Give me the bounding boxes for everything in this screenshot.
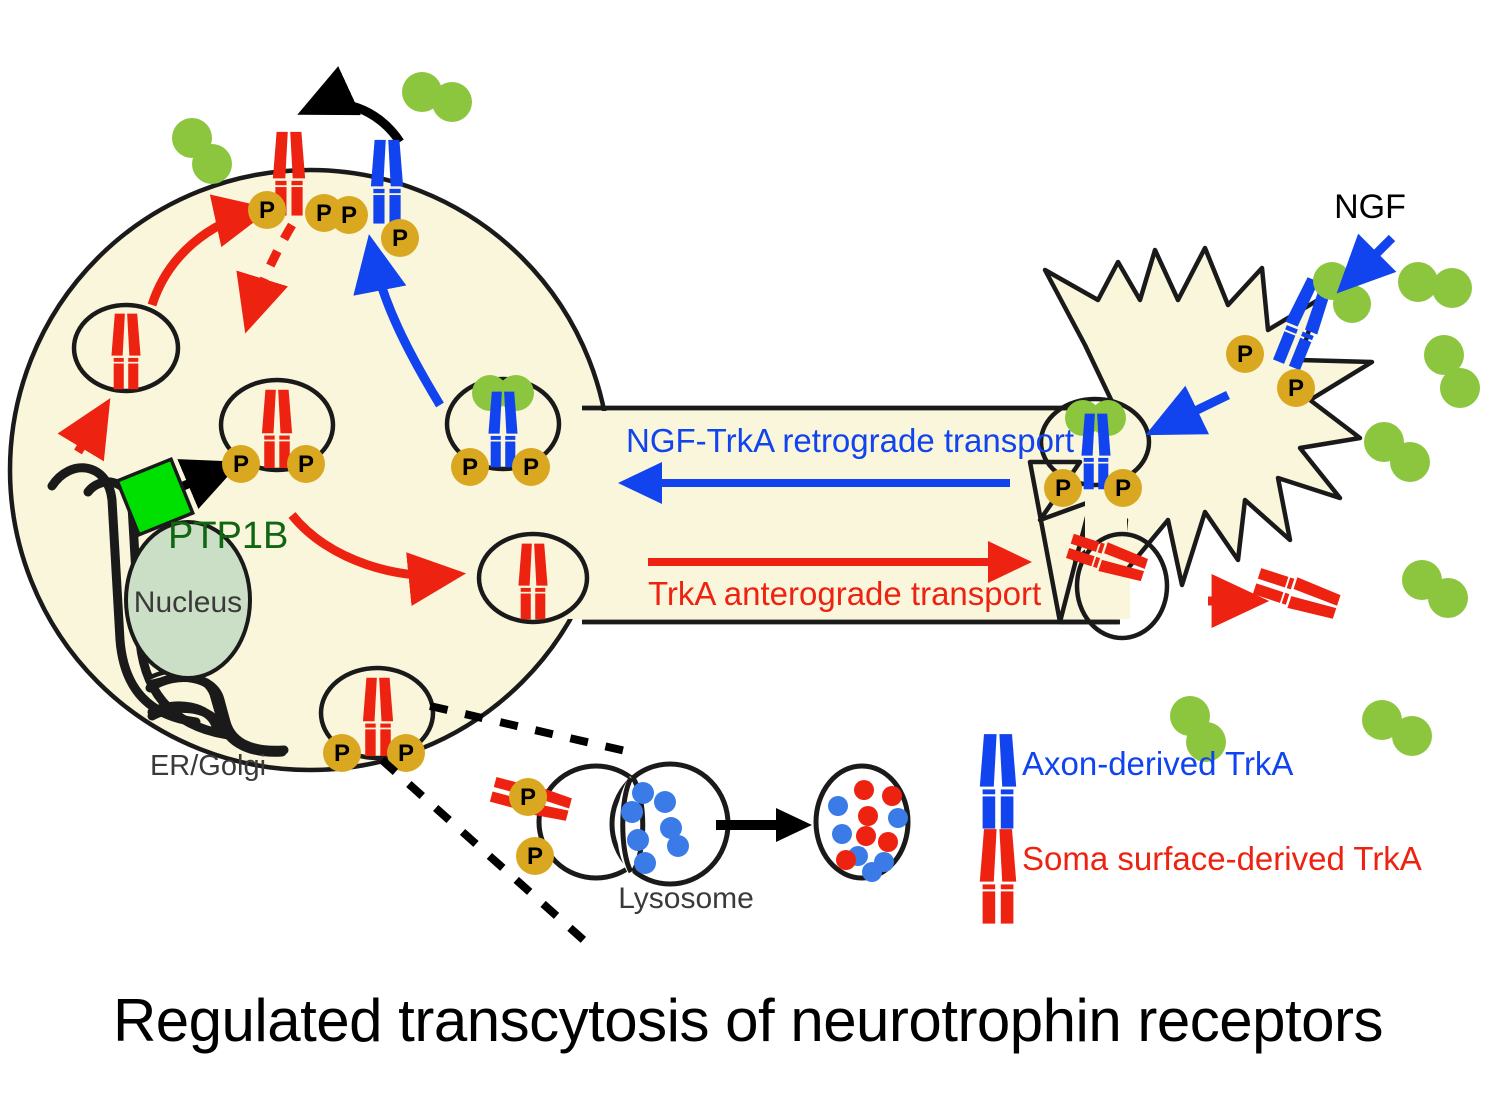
phospho-label: P [1288, 375, 1304, 402]
phospho-label: P [392, 225, 408, 252]
lysosome-label: Lysosome [618, 882, 754, 915]
ngf-monomer [498, 375, 534, 411]
arrow-ngf-binding [1348, 238, 1392, 282]
ngf-dimer [402, 72, 472, 122]
diagram-svg: P P P P P P P [0, 0, 1496, 1120]
phospho-label: P [334, 740, 350, 767]
phospho-label: P [316, 200, 332, 227]
legend-icon-trka-red [980, 829, 1016, 924]
ngf-dimer [1364, 422, 1430, 482]
retrograde-transport-label: NGF-TrkA retrograde transport [626, 422, 1074, 459]
ngf-dimer [1362, 700, 1432, 756]
ngf-dimer [172, 118, 232, 184]
legend-label-axon-derived: Axon-derived TrkA [1022, 745, 1293, 782]
legend: Axon-derived TrkA Soma surface-derived T… [980, 734, 1422, 924]
phospho-label: P [259, 197, 275, 224]
anterograde-transport-label: TrkA anterograde transport [648, 575, 1041, 612]
ptp1b-label: PTP1B [168, 515, 288, 557]
axon-inserted-trka-red [1252, 566, 1342, 623]
figure-canvas: P P P P P P P [0, 0, 1496, 1120]
ngf-dimer [1402, 560, 1468, 618]
arrow-ngf-release [312, 103, 400, 142]
ngf-label: NGF [1334, 188, 1406, 226]
nucleus-label: Nucleus [134, 586, 242, 619]
lysosome-inset: P P [489, 764, 908, 884]
phospho-label: P [298, 451, 314, 478]
phospho-label: P [523, 454, 539, 481]
arrow-degradation-head [776, 808, 812, 842]
phospho-label: P [398, 740, 414, 767]
figure-title: Regulated transcytosis of neurotrophin r… [0, 986, 1496, 1055]
phospho-label: P [341, 202, 357, 229]
phospho-label: P [527, 843, 543, 870]
ngf-dimer [1424, 335, 1480, 408]
er-golgi-label: ER/Golgi [150, 750, 266, 782]
legend-label-soma-derived: Soma surface-derived TrkA [1022, 840, 1422, 877]
phospho-label: P [520, 784, 536, 811]
phospho-label: P [1115, 475, 1131, 502]
ngf-dimer [1398, 262, 1472, 308]
legend-icon-trka-blue [980, 734, 1016, 829]
phospho-label: P [1055, 475, 1071, 502]
phospho-label: P [233, 451, 249, 478]
phospho-label: P [1237, 341, 1253, 368]
ngf-monomer [1333, 285, 1371, 323]
phospho-label: P [462, 454, 478, 481]
